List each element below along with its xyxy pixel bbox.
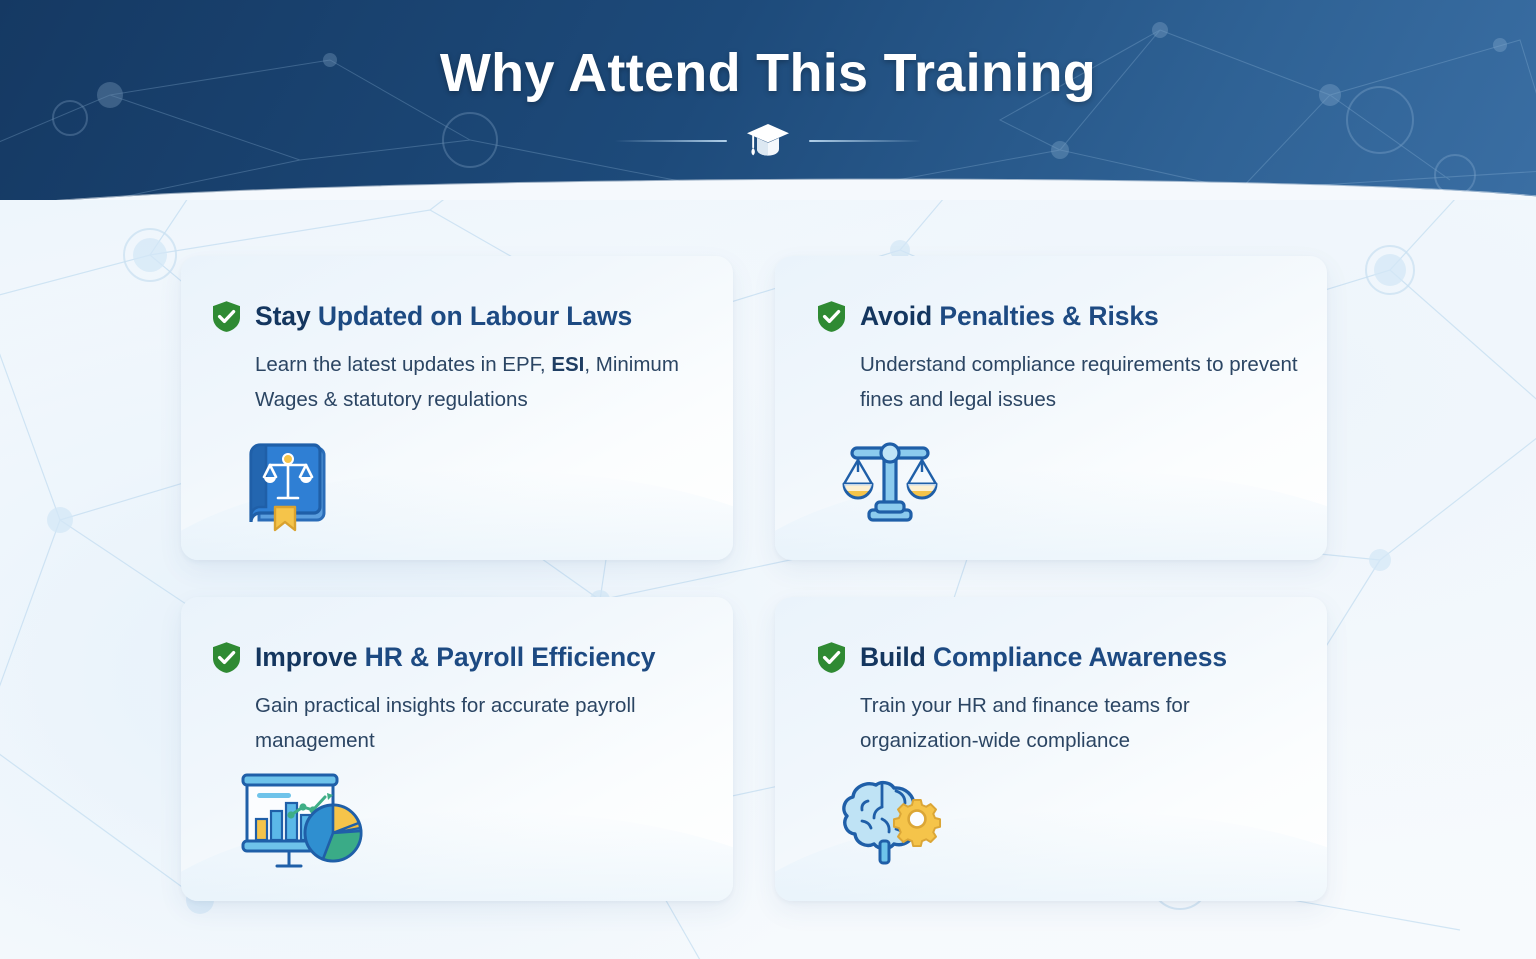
divider-line-left: [615, 140, 727, 142]
card-description: Gain practical insights for accurate pay…: [255, 688, 705, 759]
desc-part-1: Gain practical insights for accurate pay…: [255, 694, 636, 752]
brain-gear-icon: [838, 769, 950, 873]
card-title: Build Compliance Awareness: [860, 642, 1227, 672]
desc-part-1: Train your HR and finance teams for orga…: [860, 694, 1190, 752]
balance-scales-icon: [838, 432, 942, 532]
card-description: Train your HR and finance teams for orga…: [860, 688, 1299, 759]
card-title-lead: Improve: [255, 642, 365, 672]
card-title: Stay Updated on Labour Laws: [255, 301, 632, 331]
shield-check-icon: [816, 641, 847, 674]
card-title-rest: HR & Payroll Efficiency: [365, 642, 656, 672]
card-title-rest: Penalties & Risks: [939, 301, 1158, 331]
page-title: Why Attend This Training: [0, 44, 1536, 103]
title-divider: [0, 121, 1536, 161]
divider-line-right: [809, 140, 921, 142]
card-title-rest: Updated on Labour Laws: [318, 301, 632, 331]
card-title-lead: Avoid: [860, 301, 939, 331]
card-header: Avoid Penalties & Risks: [816, 300, 1299, 333]
law-book-icon: [233, 432, 337, 532]
graduation-cap-icon: [745, 121, 791, 161]
presentation-chart-icon: [233, 769, 373, 873]
shield-check-icon: [211, 641, 242, 674]
benefit-card-build-awareness[interactable]: Build Compliance Awareness Train your HR…: [775, 597, 1327, 901]
card-title-lead: Stay: [255, 301, 318, 331]
benefit-card-improve-efficiency[interactable]: Improve HR & Payroll Efficiency Gain pra…: [181, 597, 733, 901]
shield-check-icon: [816, 300, 847, 333]
card-header: Stay Updated on Labour Laws: [211, 300, 705, 333]
card-title-lead: Build: [860, 642, 933, 672]
card-title-rest: Compliance Awareness: [933, 642, 1227, 672]
card-title: Improve HR & Payroll Efficiency: [255, 642, 655, 672]
card-header: Improve HR & Payroll Efficiency: [211, 641, 705, 674]
benefit-card-avoid-penalties[interactable]: Avoid Penalties & Risks Understand compl…: [775, 256, 1327, 560]
desc-emphasis: ESI: [551, 353, 584, 376]
card-title: Avoid Penalties & Risks: [860, 301, 1159, 331]
shield-check-icon: [211, 300, 242, 333]
slide-root: Why Attend This Training: [0, 0, 1536, 959]
card-description: Learn the latest updates in EPF, ESI, Mi…: [255, 347, 705, 418]
benefit-card-grid: Stay Updated on Labour Laws Learn the la…: [181, 256, 1327, 901]
header-content: Why Attend This Training: [0, 0, 1536, 195]
benefit-card-stay-updated[interactable]: Stay Updated on Labour Laws Learn the la…: [181, 256, 733, 560]
card-description: Understand compliance requirements to pr…: [860, 347, 1299, 418]
card-header: Build Compliance Awareness: [816, 641, 1299, 674]
desc-part-1: Learn the latest updates in EPF,: [255, 353, 551, 376]
desc-part-1: Understand compliance requirements to pr…: [860, 353, 1298, 411]
